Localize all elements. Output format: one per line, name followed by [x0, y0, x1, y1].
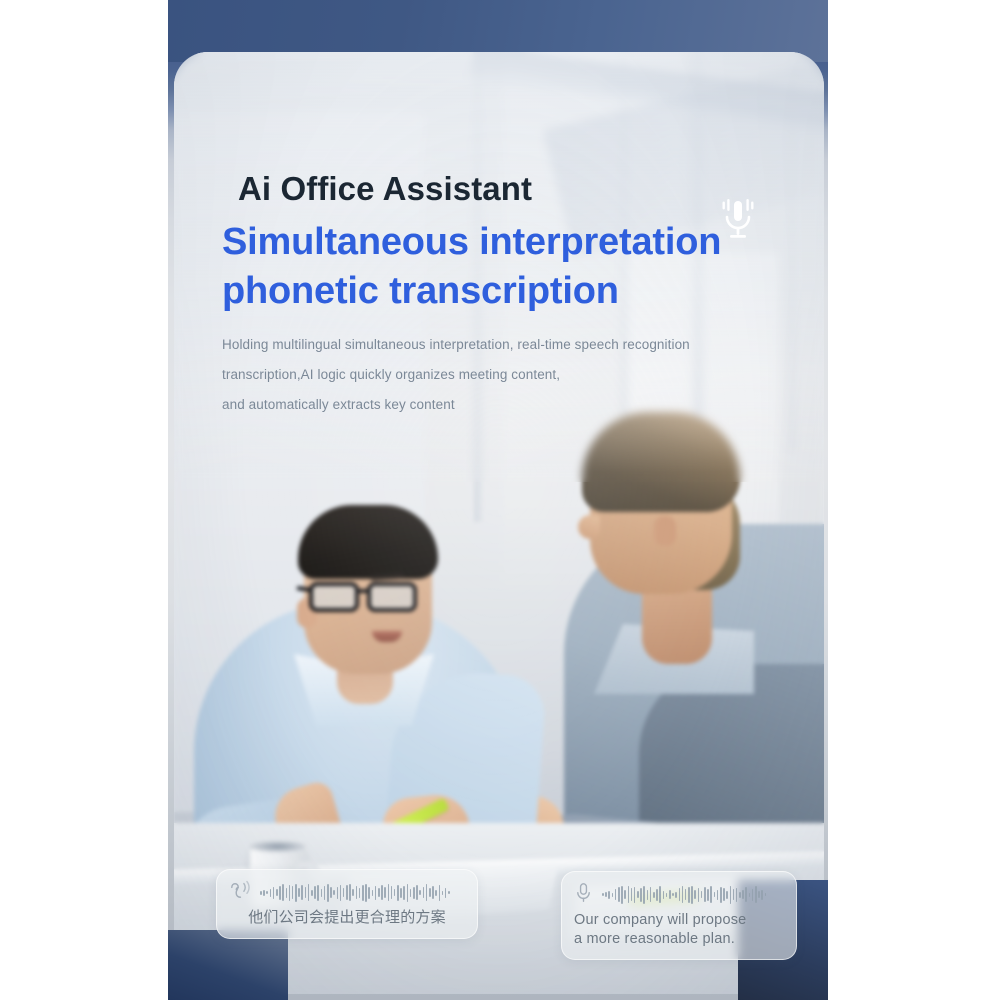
- person-right-nose: [578, 515, 600, 539]
- description: Holding multilingual simultaneous interp…: [222, 337, 792, 414]
- coffee-mug-rim: [250, 841, 306, 852]
- caption-text-translation: Our company will propose a more reasonab…: [562, 911, 796, 959]
- caption-header-row: [217, 870, 477, 908]
- person-left-hair: [298, 505, 438, 579]
- caption-header-row: [562, 872, 796, 911]
- caption-bubble-source[interactable]: 他们公司会提出更合理的方案: [216, 869, 478, 939]
- page-root: Ai Office Assistant Simultaneous interpr…: [0, 0, 1000, 1000]
- eyeglasses-icon: [307, 582, 431, 612]
- promo-banner: Ai Office Assistant Simultaneous interpr…: [168, 0, 828, 1000]
- microphone-icon: [574, 881, 593, 909]
- caption-text-source: 他们公司会提出更合理的方案: [217, 908, 477, 938]
- caption-bubble-translation[interactable]: Our company will propose a more reasonab…: [561, 871, 797, 960]
- eyeglasses-lens-right: [367, 582, 417, 612]
- person-right-ear: [654, 516, 676, 546]
- description-line-2: transcription,AI logic quickly organizes…: [222, 367, 792, 384]
- description-line-1: Holding multilingual simultaneous interp…: [222, 337, 792, 354]
- description-line-3: and automatically extracts key content: [222, 397, 792, 414]
- caption-translation-line-2: a more reasonable plan.: [574, 930, 784, 949]
- office-scene-photo: Ai Office Assistant Simultaneous interpr…: [174, 52, 824, 994]
- caption-translation-line-1: Our company will propose: [574, 911, 784, 930]
- audio-waveform: [260, 883, 465, 902]
- navy-corner-bottom-left: [168, 930, 288, 1000]
- headline: Simultaneous interpretation phonetic tra…: [222, 218, 792, 315]
- headline-line-2: phonetic transcription: [222, 267, 792, 316]
- page-title: Ai Office Assistant: [238, 170, 792, 208]
- audio-waveform: [602, 885, 784, 904]
- banner-copy: Ai Office Assistant Simultaneous interpr…: [222, 170, 792, 427]
- headline-line-1: Simultaneous interpretation: [222, 221, 721, 263]
- ear-listening-icon: [229, 879, 251, 906]
- person-right-hair: [582, 412, 740, 512]
- eyeglasses-lens-left: [309, 582, 359, 612]
- microphone-icon: [710, 192, 766, 248]
